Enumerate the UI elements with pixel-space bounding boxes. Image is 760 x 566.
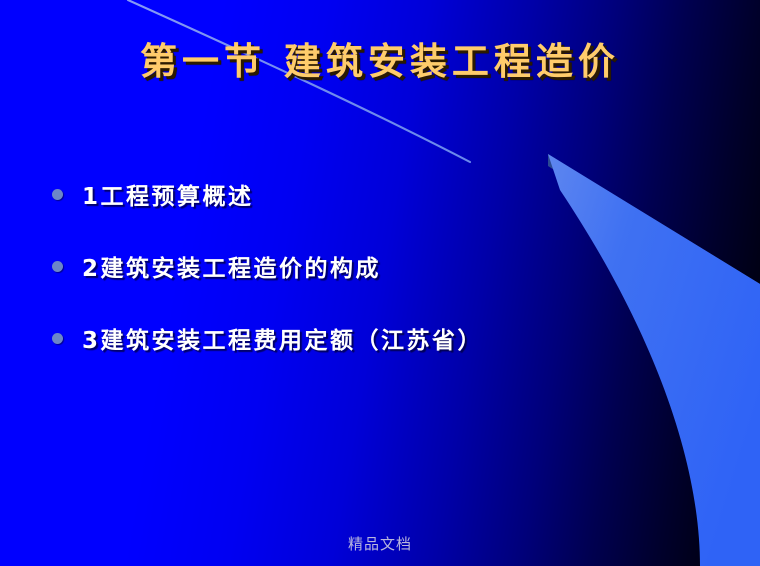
bullet-item-label: 2建筑安装工程造价的构成 [82, 249, 381, 283]
bullet-item-label: 1工程预算概述 [82, 177, 254, 211]
bullet-dot-icon [52, 261, 63, 272]
list-item[interactable]: 3建筑安装工程费用定额（江苏省） [52, 302, 692, 374]
bullet-dot-icon [52, 189, 63, 200]
list-item[interactable]: 1工程预算概述 [52, 158, 692, 230]
list-item[interactable]: 2建筑安装工程造价的构成 [52, 230, 692, 302]
slide-title: 第一节 建筑安装工程造价 [0, 42, 760, 83]
slide-content: 第一节 建筑安装工程造价 1工程预算概述 2建筑安装工程造价的构成 3建筑安装工… [0, 0, 760, 566]
footer-watermark: 精品文档 [0, 533, 760, 554]
presentation-slide: 第一节 建筑安装工程造价 1工程预算概述 2建筑安装工程造价的构成 3建筑安装工… [0, 0, 760, 566]
bullet-item-label: 3建筑安装工程费用定额（江苏省） [82, 321, 483, 355]
bullet-list: 1工程预算概述 2建筑安装工程造价的构成 3建筑安装工程费用定额（江苏省） [52, 158, 692, 374]
bullet-dot-icon [52, 333, 63, 344]
